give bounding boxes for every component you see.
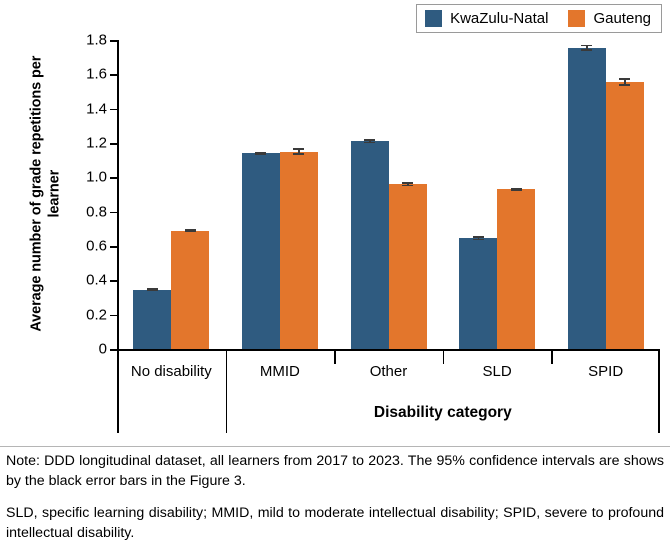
y-tick-label: 1.6 bbox=[65, 66, 107, 83]
y-tick-label: 1.2 bbox=[65, 135, 107, 152]
x-tick-label-sld: SLD bbox=[443, 362, 552, 381]
legend-swatch-kwazulu-natal bbox=[425, 10, 442, 27]
chart-legend: KwaZulu-Natal Gauteng bbox=[416, 4, 662, 33]
bar-other-gauteng[interactable] bbox=[389, 184, 427, 349]
y-axis-title: Average number of grade repetitions per … bbox=[28, 44, 63, 344]
error-bar-cap-bottom bbox=[185, 230, 196, 232]
error-bar-cap-bottom bbox=[255, 153, 266, 155]
legend-swatch-gauteng bbox=[568, 10, 585, 27]
bars-layer bbox=[117, 40, 660, 349]
error-bar bbox=[185, 229, 196, 232]
y-tick-label: 0 bbox=[65, 341, 107, 358]
category-separator bbox=[443, 351, 445, 364]
error-bar-cap-bottom bbox=[581, 49, 592, 51]
y-tick-label: 0.2 bbox=[65, 306, 107, 323]
legend-label-gauteng: Gauteng bbox=[593, 11, 651, 26]
error-bar bbox=[511, 188, 522, 191]
bar-spid-kwazulu-natal[interactable] bbox=[568, 48, 606, 349]
error-bar bbox=[147, 288, 158, 291]
legend-item-gauteng[interactable]: Gauteng bbox=[568, 10, 651, 27]
error-bar-cap-top bbox=[581, 45, 592, 47]
figure-note: Note: DDD longitudinal dataset, all lear… bbox=[6, 452, 664, 491]
y-tick-mark bbox=[110, 74, 117, 76]
y-tick-label: 0.8 bbox=[65, 203, 107, 220]
error-bar bbox=[619, 78, 630, 86]
y-tick-mark bbox=[110, 40, 117, 42]
y-tick-mark bbox=[110, 143, 117, 145]
bar-no-disability-gauteng[interactable] bbox=[171, 231, 209, 349]
y-tick-mark bbox=[110, 109, 117, 111]
notes-block: Note: DDD longitudinal dataset, all lear… bbox=[0, 452, 670, 543]
error-bar-cap-bottom bbox=[364, 142, 375, 144]
category-separator bbox=[551, 351, 553, 364]
error-bar-cap-bottom bbox=[619, 84, 630, 86]
bar-mmid-gauteng[interactable] bbox=[280, 152, 318, 349]
error-bar bbox=[364, 139, 375, 143]
y-tick-mark bbox=[110, 315, 117, 317]
error-bar bbox=[402, 182, 413, 186]
bar-spid-gauteng[interactable] bbox=[606, 82, 644, 349]
error-bar bbox=[293, 148, 304, 154]
category-separator bbox=[117, 351, 119, 433]
figure-abbreviations: SLD, specific learning disability; MMID,… bbox=[6, 504, 664, 543]
bar-mmid-kwazulu-natal[interactable] bbox=[242, 153, 280, 349]
y-tick-label: 1.0 bbox=[65, 169, 107, 186]
y-tick-mark bbox=[110, 177, 117, 179]
legend-item-kwazulu-natal[interactable]: KwaZulu-Natal bbox=[425, 10, 548, 27]
error-bar-cap-bottom bbox=[402, 185, 413, 187]
error-bar bbox=[473, 236, 484, 240]
y-tick-mark bbox=[110, 349, 117, 351]
x-tick-label-mmid: MMID bbox=[226, 362, 335, 381]
bar-other-kwazulu-natal[interactable] bbox=[351, 141, 389, 349]
error-bar-cap-top bbox=[619, 78, 630, 80]
category-axis: No disabilityMMIDOtherSLDSPID Disability… bbox=[117, 351, 660, 433]
x-tick-label-other: Other bbox=[334, 362, 443, 381]
error-bar-cap-bottom bbox=[511, 189, 522, 191]
y-tick-label: 1.8 bbox=[65, 32, 107, 49]
error-bar bbox=[255, 152, 266, 155]
plot-area: 00.20.40.60.81.01.21.41.61.8 bbox=[117, 40, 660, 349]
bar-sld-gauteng[interactable] bbox=[497, 189, 535, 349]
y-tick-mark bbox=[110, 280, 117, 282]
x-tick-label-spid: SPID bbox=[551, 362, 660, 381]
figure-panel: KwaZulu-Natal Gauteng Average number of … bbox=[0, 0, 670, 447]
legend-label-kwazulu-natal: KwaZulu-Natal bbox=[450, 11, 548, 26]
error-bar-cap-top bbox=[364, 139, 375, 141]
y-tick-label: 1.4 bbox=[65, 100, 107, 117]
error-bar-cap-bottom bbox=[293, 153, 304, 155]
bar-no-disability-kwazulu-natal[interactable] bbox=[133, 290, 171, 349]
error-bar-cap-bottom bbox=[473, 239, 484, 241]
bar-sld-kwazulu-natal[interactable] bbox=[459, 238, 497, 349]
x-tick-label-no-disability: No disability bbox=[117, 362, 226, 381]
error-bar-cap-bottom bbox=[147, 290, 158, 292]
y-tick-label: 0.4 bbox=[65, 272, 107, 289]
y-tick-mark bbox=[110, 246, 117, 248]
error-bar-cap-top bbox=[293, 148, 304, 150]
x-axis-group-title: Disability category bbox=[226, 404, 660, 422]
error-bar-cap-top bbox=[402, 182, 413, 184]
error-bar bbox=[581, 45, 592, 51]
y-tick-label: 0.6 bbox=[65, 238, 107, 255]
y-tick-mark bbox=[110, 212, 117, 214]
error-bar-cap-top bbox=[473, 236, 484, 238]
category-separator bbox=[334, 351, 336, 364]
